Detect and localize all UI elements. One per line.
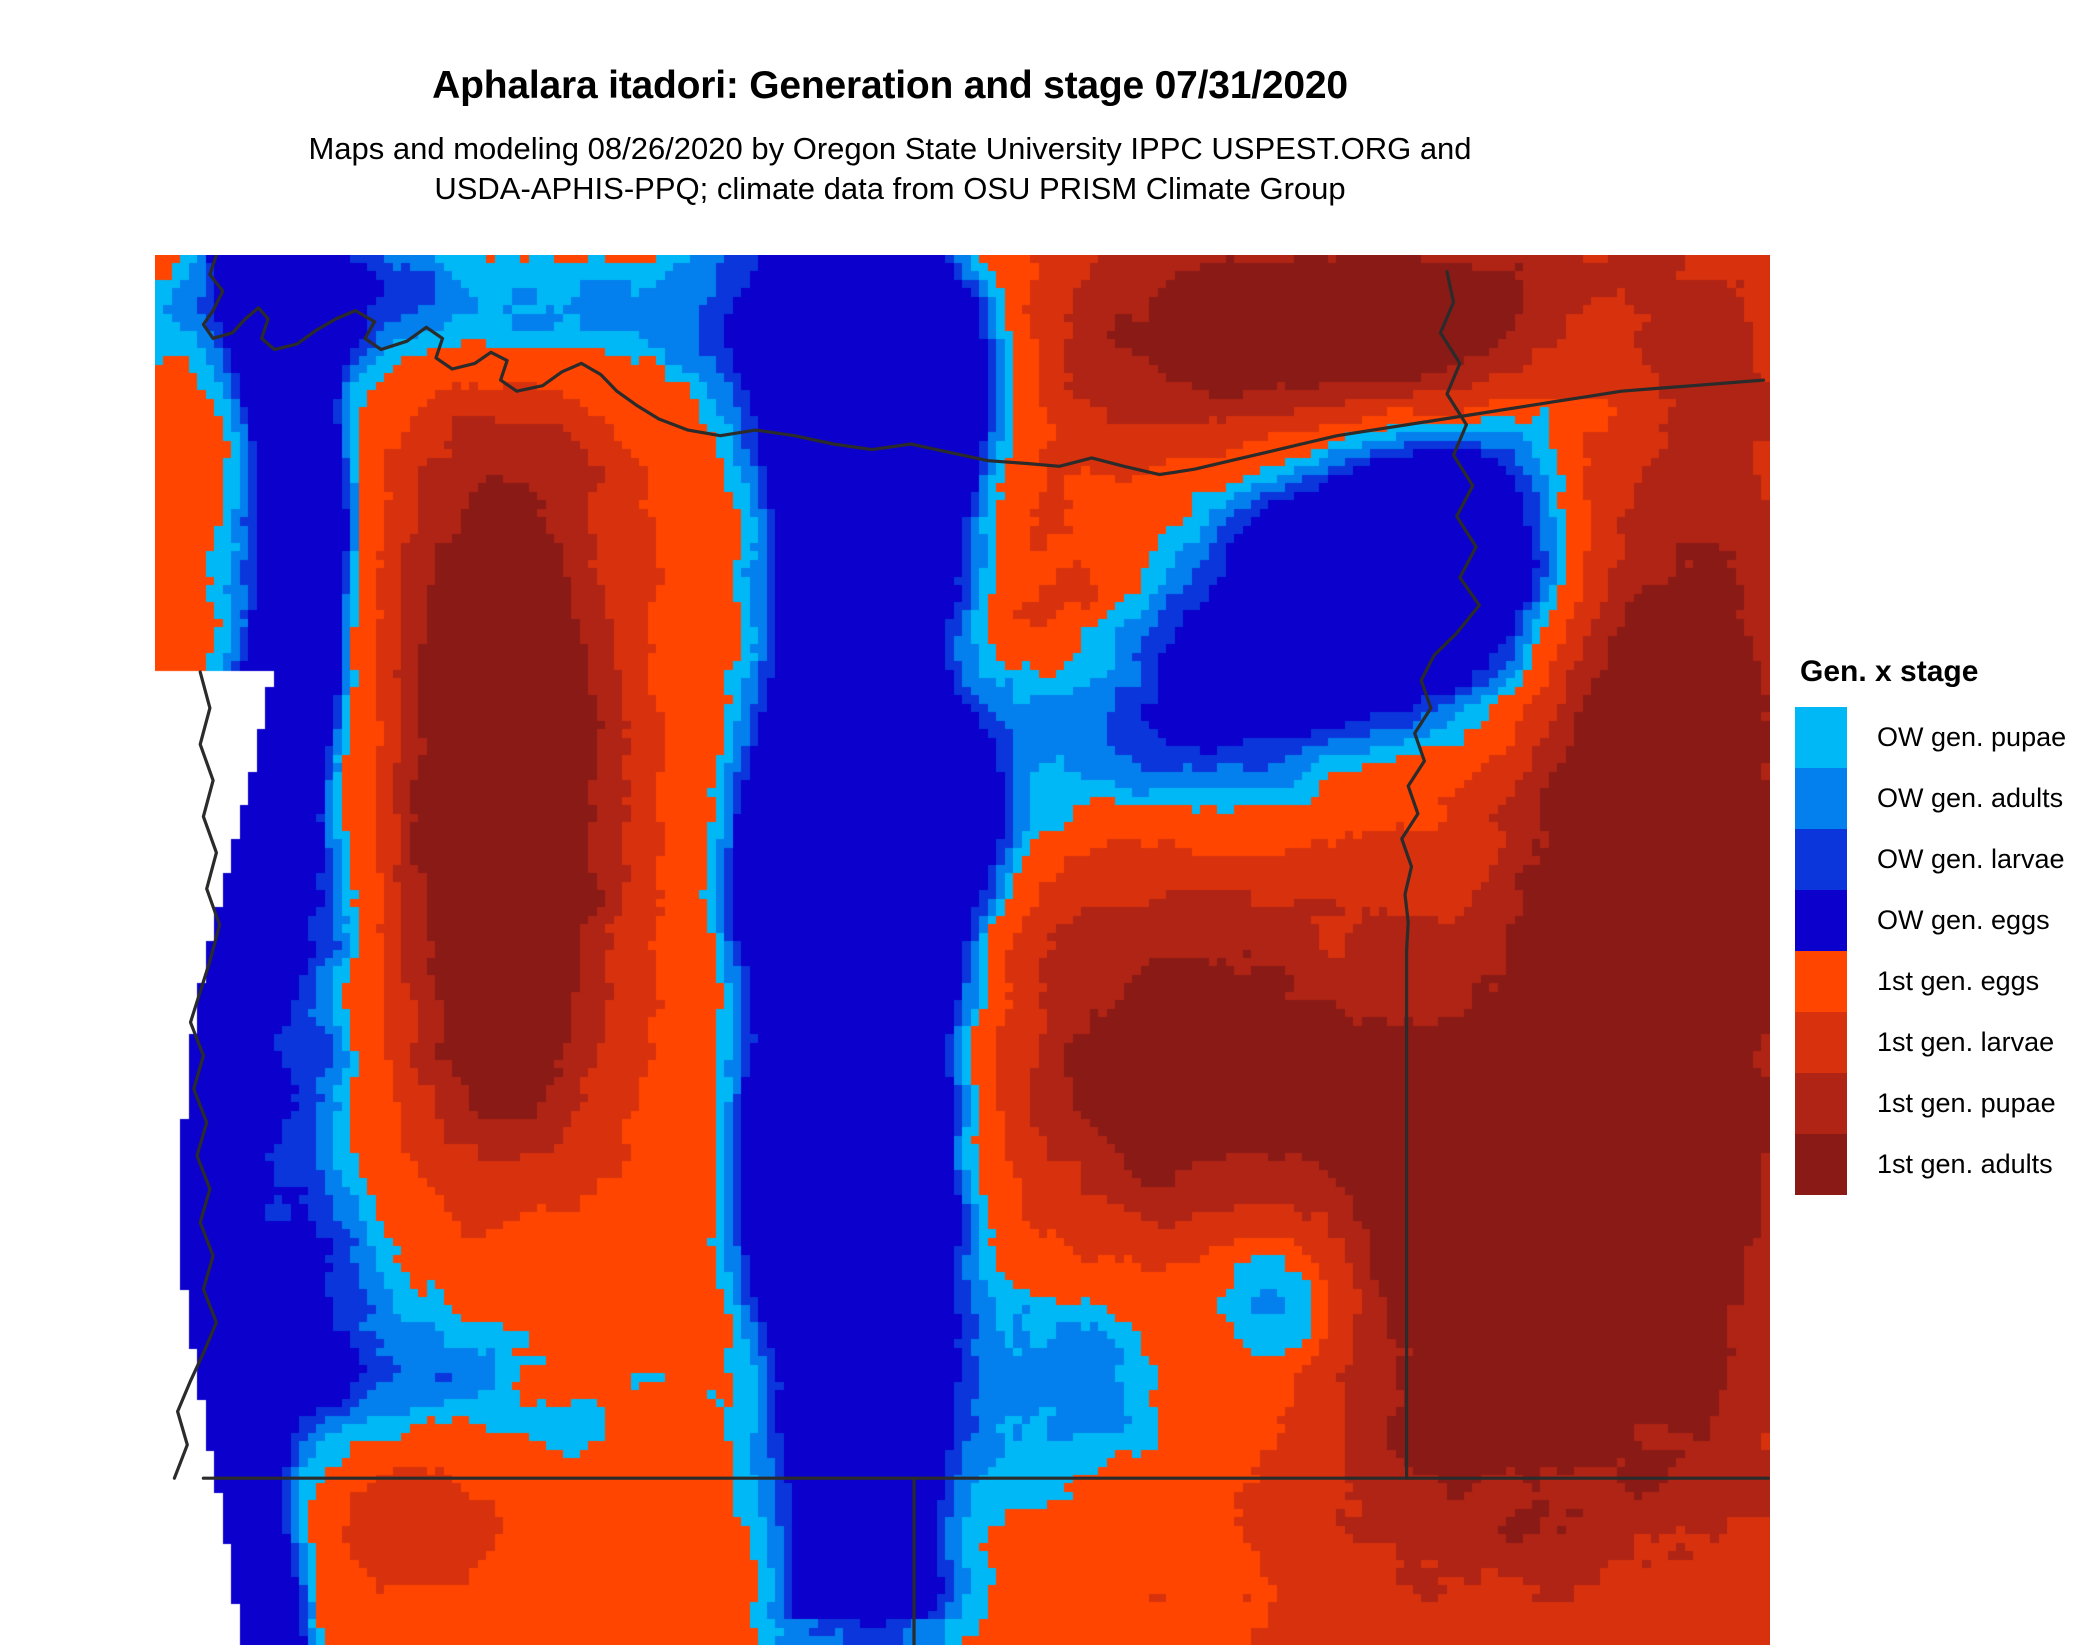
boundary-line	[174, 672, 219, 1478]
boundary-line	[1402, 272, 1480, 950]
legend-label: OW gen. larvae	[1877, 846, 2065, 873]
page-title: Aphalara itadori: Generation and stage 0…	[0, 66, 1780, 107]
legend-swatch	[1795, 829, 1847, 890]
legend-item[interactable]: OW gen. eggs	[1795, 890, 2095, 951]
legend-item[interactable]: OW gen. adults	[1795, 768, 2095, 829]
legend-label: OW gen. adults	[1877, 785, 2063, 812]
figure-subtitle: Maps and modeling 08/26/2020 by Oregon S…	[0, 129, 1780, 210]
legend-label: 1st gen. eggs	[1877, 968, 2039, 995]
legend-item[interactable]: OW gen. larvae	[1795, 829, 2095, 890]
legend-item[interactable]: 1st gen. adults	[1795, 1134, 2095, 1195]
legend-label: OW gen. pupae	[1877, 724, 2066, 751]
legend-swatch	[1795, 890, 1847, 951]
legend-swatch	[1795, 1073, 1847, 1134]
legend-title: Gen. x stage	[1800, 655, 2095, 689]
legend-swatch	[1795, 951, 1847, 1012]
legend-item[interactable]: 1st gen. pupae	[1795, 1073, 2095, 1134]
legend-entries: OW gen. pupaeOW gen. adultsOW gen. larva…	[1795, 707, 2095, 1195]
legend-label: OW gen. eggs	[1877, 907, 2050, 934]
state-boundaries-overlay	[155, 255, 1770, 1645]
figure-header: Aphalara itadori: Generation and stage 0…	[0, 0, 1780, 210]
legend-swatch	[1795, 768, 1847, 829]
map-figure: Aphalara itadori: Generation and stage 0…	[0, 0, 2100, 1645]
subtitle-line-2: USDA-APHIS-PPQ; climate data from OSU PR…	[0, 169, 1780, 209]
subtitle-line-1: Maps and modeling 08/26/2020 by Oregon S…	[308, 131, 1471, 166]
legend-item[interactable]: 1st gen. eggs	[1795, 951, 2095, 1012]
boundary-line	[1027, 380, 1763, 475]
legend-swatch	[1795, 1134, 1847, 1195]
boundary-line	[203, 255, 1027, 464]
legend-swatch	[1795, 1012, 1847, 1073]
raster-map[interactable]	[155, 255, 1770, 1645]
legend-item[interactable]: 1st gen. larvae	[1795, 1012, 2095, 1073]
legend-item[interactable]: OW gen. pupae	[1795, 707, 2095, 768]
legend: Gen. x stage OW gen. pupaeOW gen. adults…	[1795, 655, 2095, 1195]
legend-swatch	[1795, 707, 1847, 768]
legend-label: 1st gen. adults	[1877, 1151, 2053, 1178]
boundary-line	[216, 255, 226, 283]
legend-label: 1st gen. larvae	[1877, 1029, 2054, 1056]
legend-label: 1st gen. pupae	[1877, 1090, 2056, 1117]
